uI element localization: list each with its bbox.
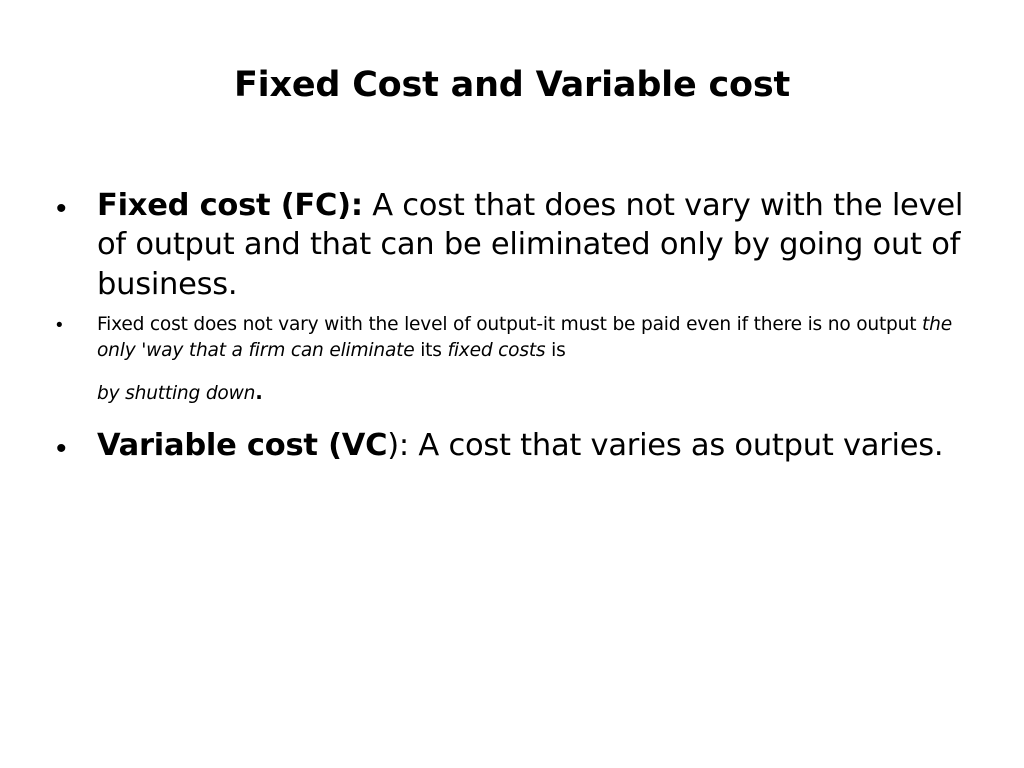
note-italic-shutting-down: by shutting down (97, 383, 255, 404)
note-continuation-line: by shutting down. (97, 379, 976, 406)
note-plain-lead: Fixed cost does not vary with the level … (97, 314, 922, 335)
note-plain-mid: its (415, 340, 448, 361)
bullet-dot-small-icon: • (56, 312, 97, 335)
note-italic-phrase-two: fixed costs (447, 340, 545, 361)
bullet-dot-icon: • (56, 186, 97, 224)
bullet-item-fixed-cost-note: • Fixed cost does not vary with the leve… (56, 312, 976, 406)
variable-cost-label: Variable cost (VC (97, 428, 387, 463)
note-end-period: . (255, 380, 262, 404)
note-plain-tail: is (545, 340, 565, 361)
bullet-item-fixed-cost: • Fixed cost (FC): A cost that does not … (56, 186, 976, 304)
bullet-dot-icon: • (56, 426, 97, 464)
page-title: Fixed Cost and Variable cost (0, 66, 1024, 105)
bullet-text-fixed-cost-note: Fixed cost does not vary with the level … (97, 312, 976, 406)
bullet-text-variable-cost: Variable cost (VC): A cost that varies a… (97, 426, 976, 465)
bullet-item-variable-cost: • Variable cost (VC): A cost that varies… (56, 426, 976, 465)
body-spacer (56, 406, 976, 426)
slide-canvas: Fixed Cost and Variable cost • Fixed cos… (0, 0, 1024, 768)
fixed-cost-label: Fixed cost (FC): (97, 188, 363, 223)
variable-cost-definition: ): A cost that varies as output varies. (387, 428, 943, 463)
slide-body: • Fixed cost (FC): A cost that does not … (56, 186, 976, 466)
bullet-text-fixed-cost: Fixed cost (FC): A cost that does not va… (97, 186, 976, 304)
